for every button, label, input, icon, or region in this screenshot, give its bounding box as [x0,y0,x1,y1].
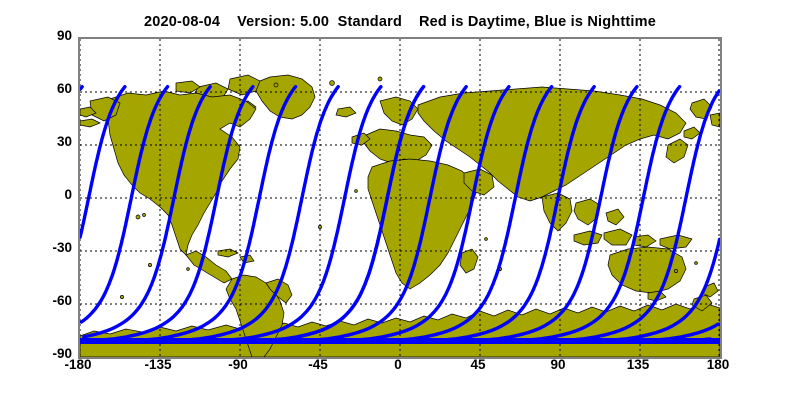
canary-islands [355,190,358,193]
seychelles [485,238,488,241]
y-tick-label: 30 [34,134,72,149]
x-tick-label: -45 [308,357,328,372]
x-tick-label: -135 [144,357,171,372]
y-tick-label: 0 [34,187,72,202]
new-caledonia [674,269,677,272]
x-tick-label: 0 [394,357,402,372]
y-tick-label: 90 [34,28,72,43]
y-tick-label: 60 [34,81,72,96]
polar-track-band [80,338,720,344]
x-tick-label: 180 [707,357,730,372]
galapagos [187,268,190,271]
y-tick-label: -30 [34,240,72,255]
x-tick-label: 135 [627,357,650,372]
vanuatu [695,262,698,265]
plot-area [80,39,720,357]
plot-frame [78,37,722,359]
y-tick-label: -60 [34,293,72,308]
world-map-svg [80,39,720,357]
x-axis-longitude: -180-135-90-4504590135180 [78,357,722,379]
pacific-islet-1 [148,263,151,266]
hawaii [136,215,140,219]
svalbard [330,81,335,86]
x-tick-label: -180 [64,357,91,372]
x-tick-label: 45 [470,357,485,372]
ground-track-map-figure: 2020-08-04 Version: 5.00 Standard Red is… [0,0,800,400]
x-tick-label: 90 [550,357,565,372]
hawaii-islet [143,214,146,217]
y-axis-latitude: 9060300-30-60-90 [28,37,72,355]
svalbard-islet [274,83,278,87]
pacific-islet-2 [120,295,123,298]
franz-josef-land [378,77,382,81]
figure-title: 2020-08-04 Version: 5.00 Standard Red is… [0,14,800,30]
x-tick-label: -90 [228,357,248,372]
